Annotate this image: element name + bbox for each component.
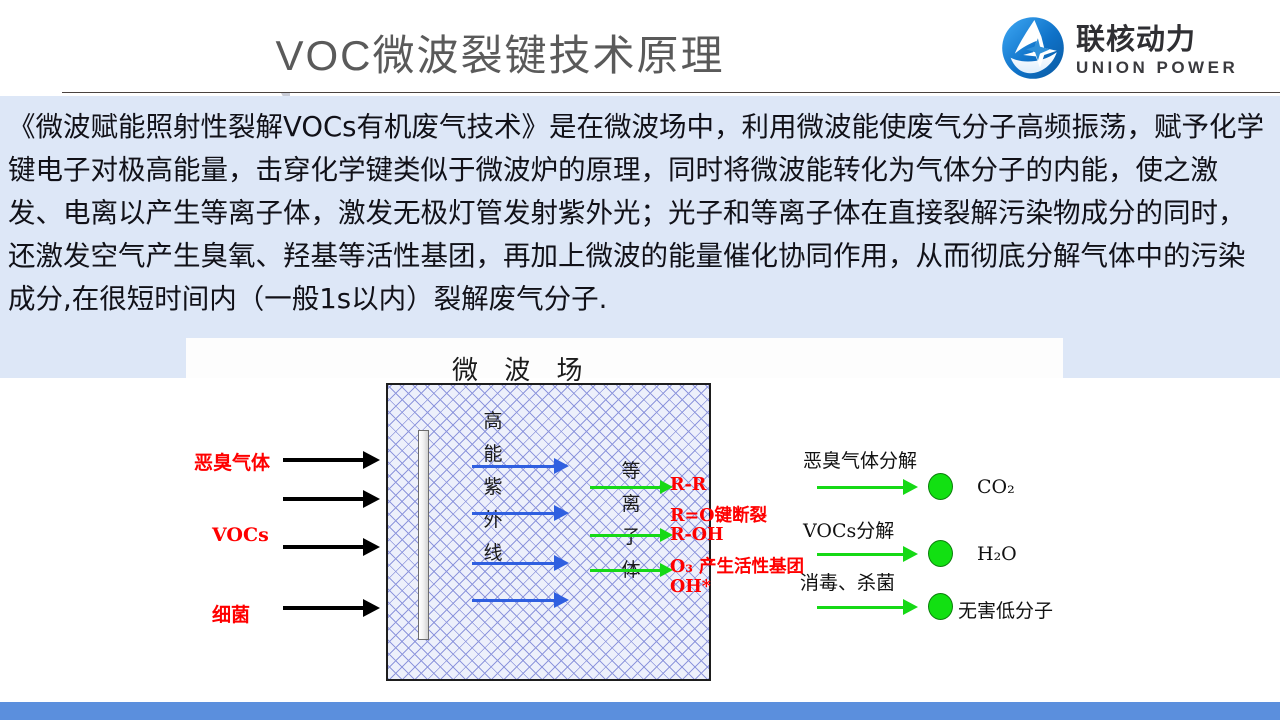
globe-swoosh-logo-icon: [998, 13, 1068, 83]
uv-arrow-4-head: [554, 592, 569, 608]
footer-bar: [0, 702, 1280, 720]
output-arrow-3-line: [817, 606, 905, 609]
uv-arrow-3-line: [472, 562, 556, 565]
output-label-sterilize: 消毒、杀菌: [800, 568, 895, 595]
output-dot-3: [928, 593, 953, 620]
page-title: VOC微波裂键技术原理: [0, 22, 1000, 83]
output-label-vocs: VOCs分解: [803, 516, 894, 543]
uv-arrow-4-line: [472, 599, 556, 602]
input-label-bacteria: 细菌: [212, 600, 250, 627]
title-divider: [62, 92, 1280, 93]
description-text: 《微波赋能照射性裂解VOCs有机废气技术》是在微波场中，利用微波能使废气分子高频…: [8, 106, 1272, 321]
diagram-title: 微 波 场: [452, 350, 592, 387]
input-arrow-4-line: [283, 606, 365, 610]
uv-vertical-label: 高能紫外线: [482, 405, 504, 570]
description-panel: 《微波赋能照射性裂解VOCs有机废气技术》是在微波场中，利用微波能使废气分子高频…: [0, 96, 1280, 378]
output-arrow-1-head: [903, 479, 918, 495]
reaction-line-2: R=O键断裂: [670, 502, 767, 527]
output-dot-2: [928, 540, 953, 567]
output-product-3: 无害低分子: [958, 596, 1053, 623]
output-arrow-2-line: [817, 553, 905, 556]
reaction-line-3: R-OH: [670, 525, 724, 545]
output-arrow-2-head: [903, 546, 918, 562]
plasma-arrow-2-line: [590, 534, 662, 537]
output-arrow-1-line: [817, 486, 905, 489]
input-label-vocs: VOCs: [212, 524, 269, 546]
logo-cn-name: 联核动力: [1076, 25, 1238, 54]
output-product-2: H₂O: [977, 543, 1017, 565]
input-arrow-3-head: [363, 538, 380, 556]
output-label-odor: 恶臭气体分解: [803, 446, 917, 473]
reaction-line-5: OH*: [670, 577, 711, 597]
uv-arrow-2-line: [472, 512, 556, 515]
output-dot-1: [928, 473, 953, 500]
brand-logo: 联核动力 UNION POWER: [998, 12, 1270, 84]
uv-lamp-icon: [418, 430, 429, 640]
reaction-line-1: R-R: [670, 475, 706, 495]
plasma-vertical-label: 等离子体: [620, 455, 642, 587]
uv-arrow-1-head: [554, 458, 569, 474]
input-arrow-4-head: [363, 599, 380, 617]
microwave-chamber: 高能紫外线 等离子体 R-R R=O键断裂 R-OH O₃ 产生活性基团 OH*: [386, 383, 711, 681]
input-arrow-1-head: [363, 451, 380, 469]
output-arrow-3-head: [903, 599, 918, 615]
uv-arrow-2-head: [554, 505, 569, 521]
input-arrow-2-line: [283, 497, 365, 501]
reaction-line-4: O₃ 产生活性基团: [670, 553, 804, 578]
output-product-1: CO₂: [977, 476, 1015, 498]
input-arrow-3-line: [283, 545, 365, 549]
plasma-arrow-3-line: [590, 569, 662, 572]
input-label-odor: 恶臭气体: [194, 448, 270, 475]
uv-arrow-1-line: [472, 465, 556, 468]
process-diagram: 微 波 场 恶臭气体 VOCs 细菌 高能紫外线 等离子体 R-R R=O: [0, 338, 1280, 702]
input-arrow-1-line: [283, 458, 365, 462]
input-arrow-2-head: [363, 490, 380, 508]
logo-en-name: UNION POWER: [1076, 59, 1238, 76]
uv-arrow-3-head: [554, 555, 569, 571]
plasma-arrow-1-line: [590, 486, 662, 489]
